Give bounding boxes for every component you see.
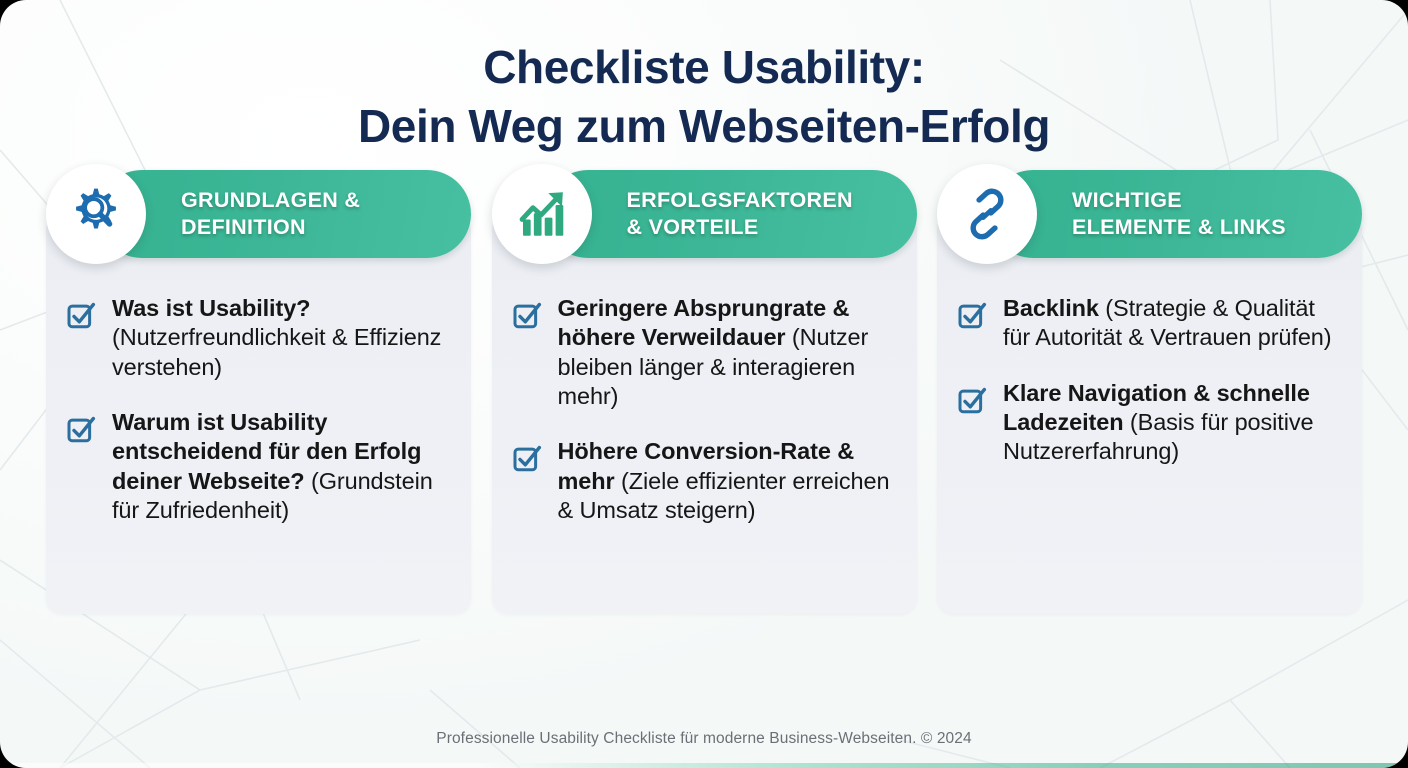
checklist-card-wichtige-elemente: Backlink (Strategie & Qualität für Autor…	[937, 214, 1362, 614]
column-header-line-1: ERFOLGSFAKTOREN	[627, 188, 853, 212]
list-item-text: Backlink (Strategie & Qualität für Autor…	[1003, 294, 1336, 353]
footer-caption: Professionelle Usability Checkliste für …	[0, 730, 1408, 748]
checklist-column-grundlagen: GRUNDLAGEN & DEFINITION	[46, 170, 471, 614]
column-header-label: ERFOLGSFAKTOREN & VORTEILE	[627, 187, 853, 241]
column-header-label: WICHTIGE ELEMENTE & LINKS	[1072, 187, 1286, 241]
growth-chart-icon	[492, 164, 592, 264]
infographic-canvas: Checkliste Usability: Dein Weg zum Webse…	[0, 0, 1408, 768]
page-title: Checkliste Usability: Dein Weg zum Webse…	[0, 0, 1408, 156]
checkbox-checked-icon	[957, 300, 987, 330]
list-item-text: Was ist Usability? (Nutzerfreundlichkeit…	[112, 294, 445, 382]
checklist-card-grundlagen: Was ist Usability? (Nutzerfreundlichkeit…	[46, 214, 471, 614]
list-item[interactable]: Klare Navigation & schnelle Ladezeiten (…	[957, 379, 1336, 467]
checkbox-checked-icon	[66, 414, 96, 444]
title-line-1: Checkliste Usability:	[0, 38, 1408, 97]
column-header-line-2: DEFINITION	[181, 214, 360, 241]
list-item[interactable]: Höhere Conversion-Rate & mehr (Ziele eff…	[512, 437, 891, 525]
list-item-text: Klare Navigation & schnelle Ladezeiten (…	[1003, 379, 1336, 467]
column-header-line-1: WICHTIGE	[1072, 188, 1182, 212]
list-item-text: Warum ist Usability entscheidend für den…	[112, 408, 445, 526]
column-header-line-2: ELEMENTE & LINKS	[1072, 214, 1286, 241]
list-item-bold: Backlink	[1003, 295, 1105, 321]
column-header-grundlagen[interactable]: GRUNDLAGEN & DEFINITION	[98, 170, 471, 258]
list-item-text: Geringere Absprungrate & höhere Verweild…	[558, 294, 891, 412]
list-item[interactable]: Backlink (Strategie & Qualität für Autor…	[957, 294, 1336, 353]
checklist-column-erfolgsfaktoren: ERFOLGSFAKTOREN & VORTEILE	[492, 170, 917, 614]
list-item-text: Höhere Conversion-Rate & mehr (Ziele eff…	[558, 437, 891, 525]
checkbox-checked-icon	[512, 443, 542, 473]
column-header-erfolgsfaktoren[interactable]: ERFOLGSFAKTOREN & VORTEILE	[544, 170, 917, 258]
checkbox-checked-icon	[957, 385, 987, 415]
list-item-bold: Was ist Usability?	[112, 295, 310, 321]
column-header-line-2: & VORTEILE	[627, 214, 853, 241]
chain-link-icon	[937, 164, 1037, 264]
checkbox-checked-icon	[512, 300, 542, 330]
bottom-accent-bar	[0, 763, 1408, 768]
list-item[interactable]: Warum ist Usability entscheidend für den…	[66, 408, 445, 526]
column-header-line-1: GRUNDLAGEN &	[181, 188, 360, 212]
list-item[interactable]: Was ist Usability? (Nutzerfreundlichkeit…	[66, 294, 445, 382]
gear-magnifier-icon	[46, 164, 146, 264]
checkbox-checked-icon	[66, 300, 96, 330]
title-line-2: Dein Weg zum Webseiten-Erfolg	[0, 97, 1408, 156]
column-header-wichtige-elemente[interactable]: WICHTIGE ELEMENTE & LINKS	[989, 170, 1362, 258]
list-item-normal: (Nutzerfreundlichkeit & Effizienz verste…	[112, 324, 441, 379]
checklist-column-wichtige-elemente: WICHTIGE ELEMENTE & LINKS	[937, 170, 1362, 614]
column-header-label: GRUNDLAGEN & DEFINITION	[181, 187, 360, 241]
checklist-card-erfolgsfaktoren: Geringere Absprungrate & höhere Verweild…	[492, 214, 917, 614]
list-item[interactable]: Geringere Absprungrate & höhere Verweild…	[512, 294, 891, 412]
checklist-columns: GRUNDLAGEN & DEFINITION	[0, 170, 1408, 614]
